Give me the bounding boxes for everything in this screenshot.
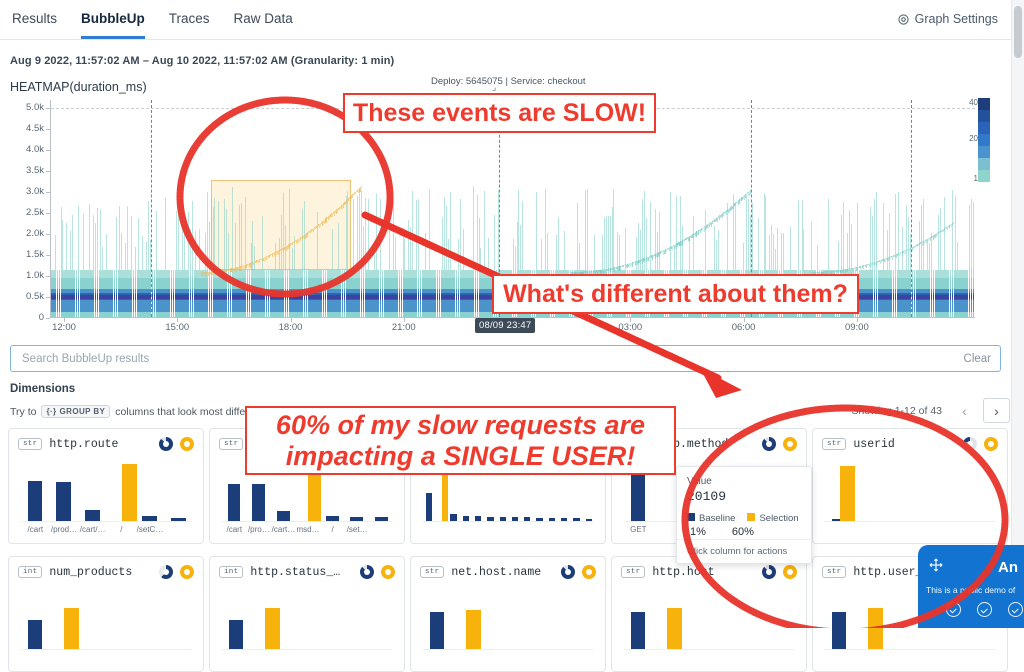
heatmap-cell xyxy=(192,201,193,270)
tab-results[interactable]: Results xyxy=(12,0,57,39)
dimension-bar-chart xyxy=(21,587,191,649)
heatmap-cell xyxy=(460,199,461,270)
dimension-card-title: net.host.name xyxy=(451,566,561,579)
heatmap-cell xyxy=(944,197,945,270)
heatmap-cell xyxy=(275,243,276,270)
bar-label: / xyxy=(120,525,122,534)
heatmap-cell xyxy=(898,192,899,270)
heatmap-cell xyxy=(380,199,381,270)
heatmap-cell xyxy=(131,216,132,270)
column-type-badge: int xyxy=(219,566,243,578)
heatmap-cell xyxy=(870,207,871,269)
baseline-bar[interactable] xyxy=(171,518,186,521)
selection-swatch xyxy=(747,513,755,521)
baseline-donut-icon[interactable] xyxy=(963,437,977,451)
selection-donut-icon[interactable] xyxy=(381,565,395,579)
tab-label: BubbleUp xyxy=(81,11,145,26)
heatmap-cell xyxy=(89,204,90,270)
heatmap-cell xyxy=(929,243,930,269)
heatmap-cell xyxy=(743,243,744,270)
heatmap-cell xyxy=(610,216,611,270)
heatmap-cell xyxy=(214,198,215,269)
heatmap-cell xyxy=(78,206,79,270)
heatmap-cell xyxy=(479,218,480,270)
heatmap-cell xyxy=(254,246,255,270)
y-axis-tick xyxy=(46,150,50,151)
bar-label: /cart… xyxy=(272,525,296,534)
dimensions-heading: Dimensions xyxy=(10,383,75,395)
heatmap-cell xyxy=(940,208,941,270)
heatmap-cell xyxy=(357,196,358,270)
baseline-bar[interactable] xyxy=(573,518,579,521)
heatmap-cell xyxy=(226,209,227,270)
chevron-right-icon: › xyxy=(994,403,999,419)
dimension-bar-chart xyxy=(423,587,593,649)
heatmap-cell xyxy=(927,243,928,270)
search-input[interactable] xyxy=(20,352,964,366)
dimension-card[interactable]: inthttp.status_… xyxy=(209,556,405,672)
heatmap-cell xyxy=(973,202,974,270)
baseline-bar[interactable] xyxy=(475,516,481,521)
group-by-label: GROUP BY xyxy=(60,407,106,416)
scrollbar-thumb[interactable] xyxy=(1014,6,1022,58)
heatmap-cell xyxy=(602,235,603,270)
heatmap-cell xyxy=(640,230,641,270)
tooltip-baseline-legend: Baseline xyxy=(687,513,735,524)
baseline-bar[interactable] xyxy=(586,519,592,521)
heatmap-cell xyxy=(70,231,71,270)
heatmap-cell xyxy=(416,200,417,270)
baseline-bar[interactable] xyxy=(228,484,241,521)
x-axis-tick xyxy=(291,318,292,322)
selection-bar[interactable] xyxy=(265,608,280,649)
y-axis-tick-label: 1.5k xyxy=(12,249,44,260)
y-axis-tick-label: 3.5k xyxy=(12,165,44,176)
legend-swatch xyxy=(978,98,990,110)
baseline-donut-icon[interactable] xyxy=(159,565,173,579)
heatmap-cell xyxy=(224,199,225,270)
heatmap-cell xyxy=(680,196,681,270)
heatmap-cell xyxy=(955,196,956,269)
bar-label: /setC… xyxy=(137,525,164,534)
baseline-bar[interactable] xyxy=(142,516,157,521)
heatmap-cell xyxy=(515,247,516,269)
heatmap-cell xyxy=(674,246,675,270)
column-type-badge: str xyxy=(18,438,42,450)
heatmap-cell xyxy=(93,215,94,270)
bar-label: /cart xyxy=(28,525,44,534)
heatmap-cell xyxy=(218,201,219,270)
card-axis-line xyxy=(21,649,191,650)
legend-swatch xyxy=(978,122,990,134)
heatmap-cell xyxy=(429,189,430,270)
baseline-donut-icon[interactable] xyxy=(762,565,776,579)
heatmap-cell xyxy=(705,210,706,269)
heatmap-cell xyxy=(359,188,360,269)
y-axis-tick xyxy=(46,234,50,235)
heatmap-cell xyxy=(617,232,618,269)
heatmap-cell xyxy=(119,206,120,270)
heatmap-cell xyxy=(450,192,451,270)
heatmap-cell xyxy=(758,218,759,270)
baseline-bar[interactable] xyxy=(326,516,339,521)
legend-value-low: 1 xyxy=(962,174,978,183)
baseline-bar[interactable] xyxy=(56,482,71,521)
heatmap-cell xyxy=(100,209,101,270)
legend-swatch xyxy=(978,158,990,170)
heatmap-cell xyxy=(902,227,903,270)
card-axis-line xyxy=(423,649,593,650)
baseline-donut-icon[interactable] xyxy=(159,437,173,451)
y-axis-tick-label: 4.5k xyxy=(12,123,44,134)
heatmap-cell xyxy=(828,199,829,269)
heatmap-cell xyxy=(425,233,426,269)
heatmap-cell xyxy=(135,247,136,270)
annotation-whats-different: What's different about them? xyxy=(492,274,859,314)
selection-bar[interactable] xyxy=(122,464,137,521)
heatmap-cell xyxy=(376,194,377,270)
bar-label: GET xyxy=(630,525,646,534)
heatmap-cell xyxy=(302,209,303,270)
baseline-bar[interactable] xyxy=(631,612,646,649)
legend-value-mid: 20 xyxy=(962,134,978,143)
card-axis-line xyxy=(222,521,392,522)
baseline-bar[interactable] xyxy=(536,518,542,521)
y-axis-tick-label: 5.0k xyxy=(12,102,44,113)
heatmap-cell xyxy=(851,224,852,270)
y-axis-tick-label: 0 xyxy=(12,312,44,323)
heatmap-cell xyxy=(670,192,671,270)
baseline-bar[interactable] xyxy=(487,517,493,521)
heatmap-cell xyxy=(239,205,240,270)
heatmap-cell xyxy=(716,240,717,270)
x-axis-tick xyxy=(630,318,631,322)
selection-bar[interactable] xyxy=(840,466,855,521)
heatmap-cell xyxy=(594,235,595,270)
promo-subtitle: This is a public demo of xyxy=(926,585,1015,595)
baseline-bar[interactable] xyxy=(524,517,530,521)
selection-label: Selection xyxy=(759,513,798,524)
heatmap-cell xyxy=(874,199,875,270)
tab-traces[interactable]: Traces xyxy=(169,0,210,39)
column-type-badge: str xyxy=(219,438,243,450)
selection-bar[interactable] xyxy=(868,608,883,649)
heatmap-cell xyxy=(973,295,975,298)
tooltip-action-hint: Click column for actions xyxy=(677,539,811,563)
baseline-bar[interactable] xyxy=(549,518,555,521)
bar-label: /cart xyxy=(227,525,243,534)
heatmap-cell xyxy=(463,229,464,270)
heatmap-cell xyxy=(182,203,183,270)
dimension-bar-chart xyxy=(624,587,794,649)
baseline-bar[interactable] xyxy=(85,510,100,521)
baseline-bar[interactable] xyxy=(229,620,244,649)
baseline-bar[interactable] xyxy=(28,481,43,521)
heatmap-cell xyxy=(228,233,229,269)
baseline-bar[interactable] xyxy=(430,612,445,649)
y-axis-tick xyxy=(46,255,50,256)
heatmap-cell xyxy=(577,203,578,270)
heatmap-cell xyxy=(361,190,362,270)
tab-label: Traces xyxy=(169,11,210,26)
heatmap-cell xyxy=(613,189,614,270)
x-axis-tick-label: 18:00 xyxy=(279,322,303,333)
heatmap-cell xyxy=(718,230,719,269)
baseline-bar[interactable] xyxy=(832,612,847,649)
dimension-card-header: inthttp.status_… xyxy=(210,557,404,579)
heatmap-cell xyxy=(404,239,405,269)
baseline-bar[interactable] xyxy=(500,517,506,521)
column-type-badge: str xyxy=(822,438,846,450)
heatmap-cell xyxy=(849,210,850,269)
tooltip-baseline-pct: 1% xyxy=(690,526,706,538)
heatmap-cell xyxy=(446,206,447,270)
dimension-card-title: http.host xyxy=(652,566,762,579)
chart-cursor-tooltip: 08/09 23:47 xyxy=(475,318,535,333)
selection-bar[interactable] xyxy=(64,608,79,649)
clear-button[interactable]: Clear xyxy=(964,353,991,365)
baseline-bar[interactable] xyxy=(375,517,388,521)
baseline-bar[interactable] xyxy=(252,484,265,521)
heatmap-cell xyxy=(556,235,557,270)
selection-bar[interactable] xyxy=(466,610,481,649)
heatmap-cell xyxy=(659,212,660,269)
heatmap-cell xyxy=(317,212,318,270)
y-axis-tick xyxy=(46,129,50,130)
heatmap-cell xyxy=(764,193,765,270)
baseline-donut-icon[interactable] xyxy=(762,437,776,451)
check-circle-icon[interactable] xyxy=(1008,602,1023,617)
heatmap-cell xyxy=(353,199,354,270)
dimension-card[interactable]: struserid xyxy=(812,428,1008,544)
heatmap-cell xyxy=(102,247,103,270)
y-axis-tick-label: 2.5k xyxy=(12,207,44,218)
move-icon[interactable] xyxy=(928,557,944,573)
dimension-card-donuts xyxy=(762,565,797,579)
y-axis-tick xyxy=(46,192,50,193)
selection-donut-icon[interactable] xyxy=(783,437,797,451)
heatmap-cell xyxy=(587,189,588,270)
tooltip-legend: Baseline Selection xyxy=(687,513,801,524)
selection-donut-icon[interactable] xyxy=(984,437,998,451)
legend-swatch xyxy=(978,134,990,146)
baseline-bar[interactable] xyxy=(28,620,43,649)
heatmap-cell xyxy=(817,245,818,270)
dimensions-hint: Try to {·} GROUP BY columns that look mo… xyxy=(10,405,263,418)
time-range-label: Aug 9 2022, 11:57:02 AM – Aug 10 2022, 1… xyxy=(10,55,394,67)
baseline-bar[interactable] xyxy=(277,511,290,521)
heatmap-cell xyxy=(281,215,282,270)
heatmap-cell xyxy=(971,199,972,270)
dimension-bar-chart xyxy=(222,587,392,649)
heatmap-cell xyxy=(488,238,489,270)
heatmap-cell xyxy=(55,235,56,270)
search-bar[interactable]: Clear xyxy=(10,345,1001,372)
dimension-card-title: http.status_… xyxy=(250,566,360,579)
selection-donut-icon[interactable] xyxy=(582,565,596,579)
selection-donut-icon[interactable] xyxy=(180,437,194,451)
y-axis-tick-label: 0.5k xyxy=(12,291,44,302)
heatmap-cell xyxy=(957,242,958,269)
graph-settings-button[interactable]: Graph Settings xyxy=(897,12,998,26)
card-axis-line xyxy=(624,649,794,650)
baseline-bar[interactable] xyxy=(561,518,567,521)
heatmap-cell xyxy=(798,200,799,269)
dimension-card[interactable]: strhttp.route/cart/prod…/cart/…//setC… xyxy=(8,428,204,544)
heatmap-cell xyxy=(62,220,63,269)
baseline-donut-icon[interactable] xyxy=(561,565,575,579)
heatmap-cell xyxy=(887,230,888,270)
heatmap-cell xyxy=(176,211,177,270)
heatmap-cell xyxy=(790,227,791,269)
card-axis-line xyxy=(222,649,392,650)
baseline-donut-icon[interactable] xyxy=(360,565,374,579)
legend-swatch xyxy=(978,110,990,122)
dimension-card-title: userid xyxy=(853,438,963,451)
annotation-text: What's different about them? xyxy=(503,280,848,308)
deploy-marker-label: Deploy: 5645075 | Service: checkout xyxy=(431,76,586,87)
baseline-bar[interactable] xyxy=(631,470,646,521)
heatmap-cell xyxy=(771,225,772,270)
heatmap-cell xyxy=(363,226,364,269)
baseline-bar[interactable] xyxy=(450,514,456,521)
tab-bubbleup[interactable]: BubbleUp xyxy=(81,0,145,39)
deploy-marker-line xyxy=(911,100,912,317)
heatmap-cell xyxy=(279,238,280,270)
heatmap-cell xyxy=(138,218,139,270)
x-axis-tick xyxy=(64,318,65,322)
heatmap-cell xyxy=(61,207,62,270)
heatmap-cell xyxy=(484,191,485,269)
heatmap-cell xyxy=(513,239,514,270)
heatmap-cell xyxy=(682,226,683,269)
heatmap-cell xyxy=(612,207,613,270)
dimension-card-donuts xyxy=(360,565,395,579)
group-by-chip[interactable]: {·} GROUP BY xyxy=(41,405,110,418)
heatmap-cell xyxy=(232,187,233,270)
tooltip-percentages: 1% 60% xyxy=(687,526,801,538)
bar-label: msd… xyxy=(296,525,319,534)
heatmap-cell xyxy=(921,205,922,270)
heatmap-cell xyxy=(393,198,394,270)
heatmap-cell xyxy=(195,231,196,269)
x-axis-tick xyxy=(857,318,858,322)
dimension-tooltip: Value 20109 Baseline Selection 1% 60% Cl… xyxy=(676,466,812,564)
heatmap-cell xyxy=(803,229,804,270)
selection-bar[interactable] xyxy=(667,608,682,649)
heatmap-cell xyxy=(619,235,620,270)
heatmap-cell xyxy=(545,189,546,270)
dimension-card-title: http.route xyxy=(49,438,159,451)
heatmap-cell xyxy=(843,202,844,270)
heatmap-cell xyxy=(606,216,607,270)
y-axis-tick-label: 2.0k xyxy=(12,228,44,239)
y-axis-tick xyxy=(46,297,50,298)
heatmap-cell xyxy=(347,191,348,270)
heatmap-cell xyxy=(211,199,212,270)
dimension-bar-chart xyxy=(825,459,995,521)
heatmap-cell xyxy=(857,203,858,270)
column-type-badge: str xyxy=(822,566,846,578)
heatmap-cell xyxy=(374,245,375,269)
x-axis-tick xyxy=(177,318,178,322)
heatmap-cell xyxy=(748,199,749,270)
dimension-bar-chart xyxy=(21,459,191,521)
selection-donut-icon[interactable] xyxy=(180,565,194,579)
pagination-prev-button[interactable]: ‹ xyxy=(951,398,978,423)
pagination-status: Showing 1-12 of 43 xyxy=(852,405,942,417)
tab-raw-data[interactable]: Raw Data xyxy=(234,0,293,39)
heatmap-cell xyxy=(783,233,784,270)
heatmap-cell xyxy=(444,197,445,270)
baseline-bar[interactable] xyxy=(463,516,469,521)
heatmap-cell xyxy=(442,217,443,270)
dimension-card[interactable]: strnet.host.name xyxy=(410,556,606,672)
heatmap-cell xyxy=(188,212,189,269)
dimension-card-header: intnum_products xyxy=(9,557,203,579)
heatmap-cell xyxy=(127,206,128,270)
heatmap-cell xyxy=(184,233,185,270)
heatmap-cell xyxy=(579,243,580,270)
page-scrollbar[interactable] xyxy=(1011,0,1024,628)
heatmap-cell xyxy=(121,233,122,269)
x-axis-tick xyxy=(744,318,745,322)
column-type-badge: int xyxy=(18,566,42,578)
x-axis-tick-label: 12:00 xyxy=(52,322,76,333)
heatmap-cell xyxy=(146,242,147,270)
heatmap-cell xyxy=(841,215,842,270)
heatmap-cell xyxy=(207,192,208,270)
heatmap-cell xyxy=(97,208,98,270)
heatmap-cell xyxy=(906,205,907,270)
heatmap-cell xyxy=(362,185,363,187)
baseline-bar[interactable] xyxy=(426,493,432,521)
dimension-card[interactable]: strhttp.host xyxy=(611,556,807,672)
heatmap-cell xyxy=(522,201,523,270)
baseline-bar[interactable] xyxy=(350,517,363,521)
heatmap-cell xyxy=(714,226,715,270)
heatmap-cell xyxy=(395,237,396,270)
heatmap-cell xyxy=(735,203,736,270)
heatmap-cell xyxy=(156,211,157,270)
heatmap-cell xyxy=(165,198,166,270)
heatmap-cell xyxy=(473,186,474,270)
heatmap-cell xyxy=(952,190,953,269)
heatmap-cell xyxy=(558,217,559,270)
heatmap-cell xyxy=(403,228,404,270)
heatmap-cell xyxy=(895,194,896,270)
x-axis-tick-label: 21:00 xyxy=(392,322,416,333)
dimension-card[interactable]: intnum_products xyxy=(8,556,204,672)
pagination-next-button[interactable]: › xyxy=(983,398,1010,423)
hint-prefix: Try to xyxy=(10,406,36,418)
legend-value-high: 40 xyxy=(962,98,978,107)
heatmap-cell xyxy=(636,237,637,270)
heatmap-cell xyxy=(650,202,651,270)
heatmap-color-legend: 40 20 1 xyxy=(962,98,1002,190)
heatmap-cell xyxy=(520,225,521,270)
heatmap-cell xyxy=(676,196,677,270)
baseline-bar[interactable] xyxy=(512,517,518,521)
check-circle-icon[interactable] xyxy=(977,602,992,617)
promo-panel[interactable]: An This is a public demo of xyxy=(918,545,1024,628)
check-circle-icon[interactable] xyxy=(946,602,961,617)
heatmap-cell xyxy=(693,216,694,269)
selection-donut-icon[interactable] xyxy=(783,565,797,579)
heatmap-cell xyxy=(938,215,939,269)
group-by-icon: {·} xyxy=(46,407,56,416)
baseline-swatch xyxy=(687,513,695,521)
